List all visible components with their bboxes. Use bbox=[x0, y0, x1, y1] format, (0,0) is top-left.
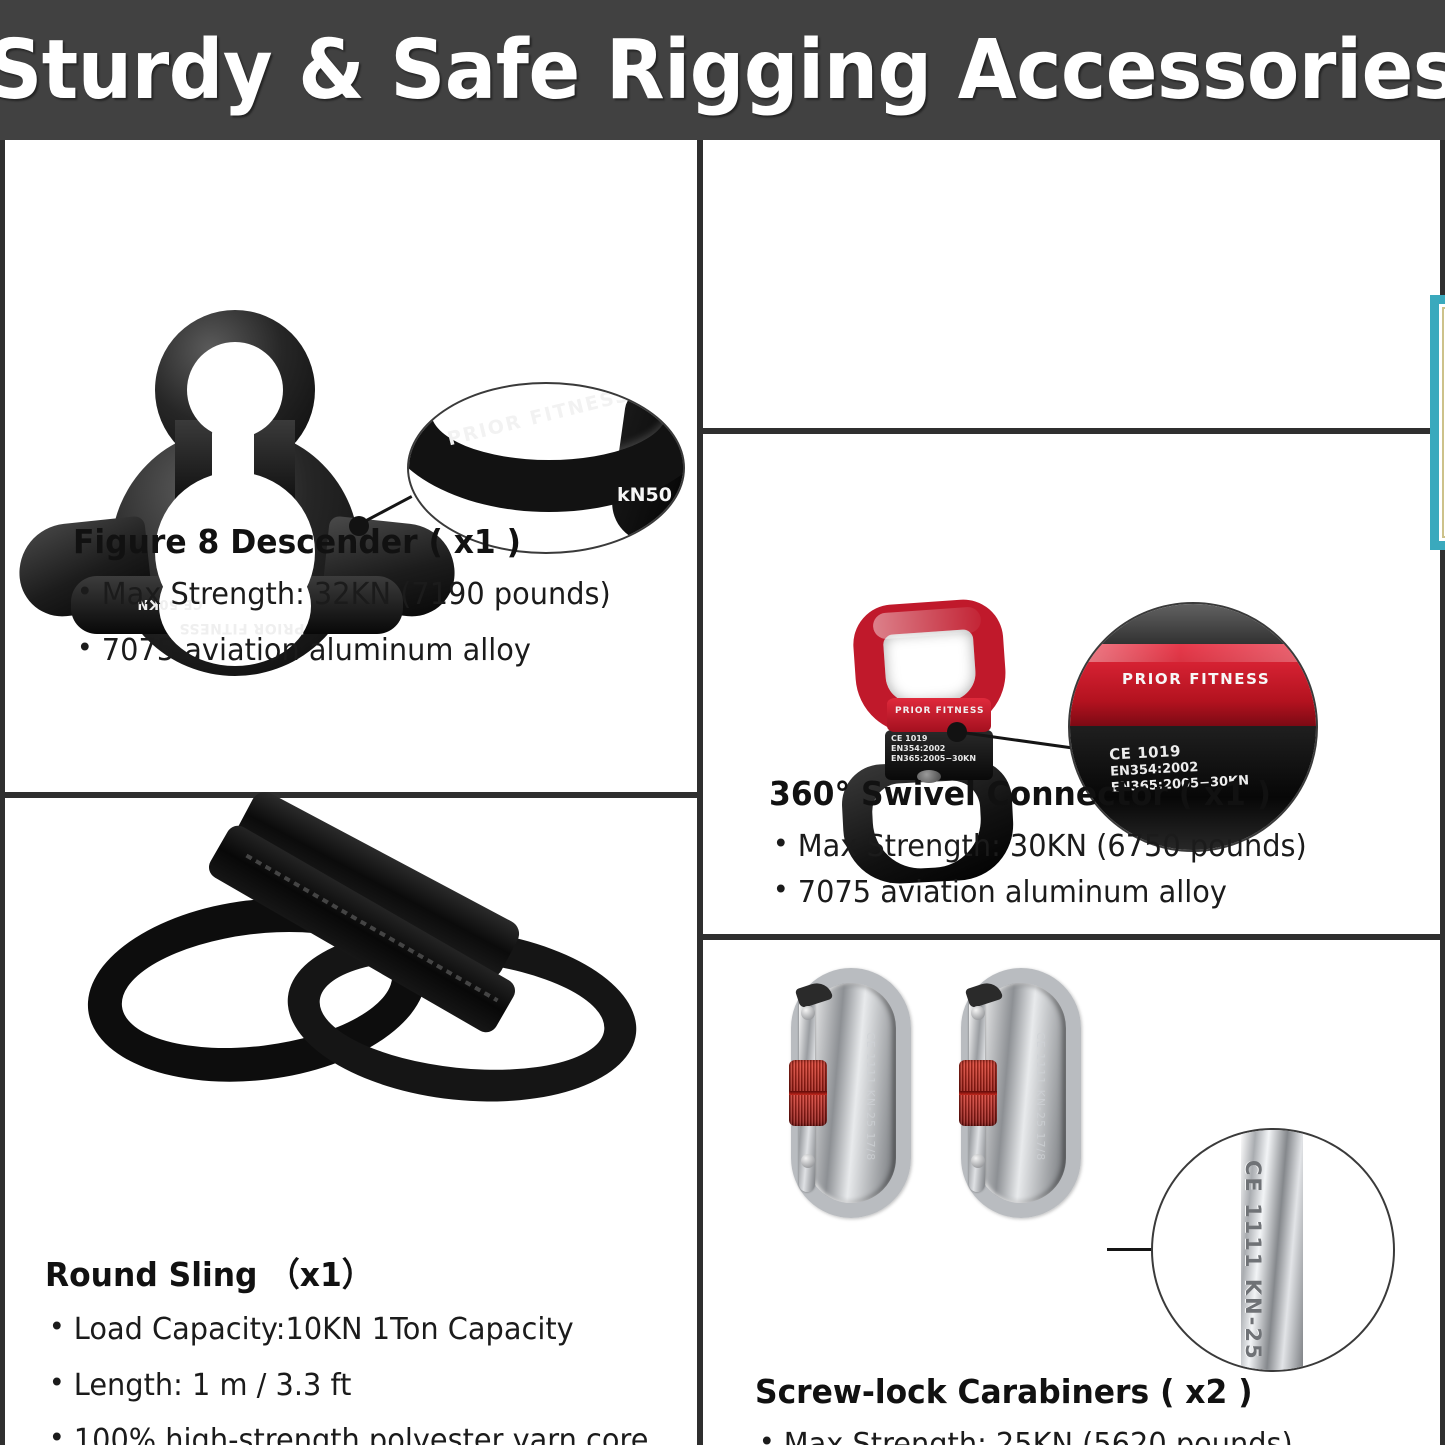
panel-screwlock-carabiners: CE 1111 KN-25 17/8 CE 1111 KN-25 17/8 CE… bbox=[703, 940, 1445, 1445]
spec-item: Load Capacity:10KN 1Ton Capacity bbox=[45, 1310, 669, 1350]
round-sling-title: Round Sling （x1） bbox=[45, 1248, 663, 1296]
spec-item: Length: 1 m / 3.3 ft bbox=[45, 1366, 669, 1406]
f8-mag-rating-text: kN50 bbox=[617, 484, 672, 506]
round-sling-image bbox=[77, 840, 657, 1120]
header-banner: Sturdy & Safe Rigging Accessories bbox=[0, 0, 1445, 140]
carabiner-2: CE 1111 KN-25 17/8 bbox=[961, 968, 1081, 1218]
swivel-title: 360° Swivel Connector ( x1 ) bbox=[769, 774, 1396, 813]
carabiner-1: CE 1111 KN-25 17/8 bbox=[791, 968, 911, 1218]
figure-8-title: Figure 8 Descender ( x1 ) bbox=[73, 522, 653, 561]
panel-rohs-test-report: UDEM CERTIFICATE ATTESTATION CERTIFICATE… bbox=[703, 140, 1445, 428]
f8-center-slot bbox=[212, 413, 254, 503]
swivel-standard-2: EN365:2005−30KN bbox=[891, 754, 976, 763]
panel-grid: CE 50KN PRIOR FITNESS PRIOR FITNESS kN50… bbox=[0, 140, 1445, 1445]
spec-item: 100% high-strength polyester yarn core bbox=[45, 1421, 669, 1445]
swivel-brand-marking: PRIOR FITNESS bbox=[895, 706, 984, 716]
swivel-ce-mark: CE 1019 bbox=[891, 734, 927, 743]
round-sling-spec-list: Load Capacity:10KN 1Ton Capacity Length:… bbox=[45, 1310, 695, 1445]
carabiner-pin-bottom bbox=[801, 1154, 815, 1168]
figure-8-spec-list: Max Strength: 32KN (7190 pounds) 7075 av… bbox=[73, 575, 683, 670]
carabiners-image: CE 1111 KN-25 17/8 CE 1111 KN-25 17/8 bbox=[791, 968, 1091, 1224]
carabiner-magnifier: CE 1111 KN-25 17/8 bbox=[1151, 1128, 1395, 1372]
swivel-standard-1: EN354:2002 bbox=[891, 744, 945, 753]
panel-round-sling: Round Sling （x1） Load Capacity:10KN 1Ton… bbox=[5, 798, 697, 1445]
panel-figure-8-descender: CE 50KN PRIOR FITNESS PRIOR FITNESS kN50… bbox=[5, 140, 697, 792]
carabiner-engraving: CE 1111 KN-25 17/8 bbox=[1034, 1032, 1047, 1161]
swivel-mag-top bbox=[1068, 602, 1318, 650]
carabiner-pin-top bbox=[801, 1006, 815, 1020]
page-title: Sturdy & Safe Rigging Accessories bbox=[0, 23, 1445, 118]
spec-item: Max Strength: 32KN (7190 pounds) bbox=[73, 575, 659, 615]
carabiner-screw-groove bbox=[959, 1091, 997, 1095]
carabiner-engraving: CE 1111 KN-25 17/8 bbox=[864, 1032, 877, 1161]
swivel-spec-list: Max Strength: 30KN (6750 pounds) 7075 av… bbox=[769, 827, 1429, 912]
carabiner-pin-bottom bbox=[971, 1154, 985, 1168]
swivel-callout-anchor bbox=[947, 722, 967, 742]
swivel-mag-brand-text: PRIOR FITNESS bbox=[1122, 670, 1270, 688]
carabiner-pin-top bbox=[971, 1006, 985, 1020]
spec-item: 7075 aviation aluminum alloy bbox=[73, 631, 659, 671]
product-infographic: Sturdy & Safe Rigging Accessories CE 50K… bbox=[0, 0, 1445, 1445]
carabiners-spec-list: Max Strength: 25KN (5620 pounds) Screw-l… bbox=[755, 1425, 1445, 1445]
carabiner-mag-engraving-text: CE 1111 KN-25 17/8 bbox=[1241, 1160, 1265, 1372]
panel-swivel-connector: CE 1019 EN354:2002 EN365:2005−30KN PRIOR… bbox=[703, 434, 1445, 934]
spec-item: 7075 aviation aluminum alloy bbox=[769, 873, 1403, 913]
spec-item: Max Strength: 30KN (6750 pounds) bbox=[769, 827, 1403, 867]
carabiner-screw-groove bbox=[789, 1091, 827, 1095]
swivel-mag-red-highlight bbox=[1068, 644, 1318, 662]
spec-item: Max Strength: 25KN (5620 pounds) bbox=[755, 1425, 1417, 1445]
carabiners-title: Screw-lock Carabiners ( x2 ) bbox=[755, 1372, 1411, 1411]
